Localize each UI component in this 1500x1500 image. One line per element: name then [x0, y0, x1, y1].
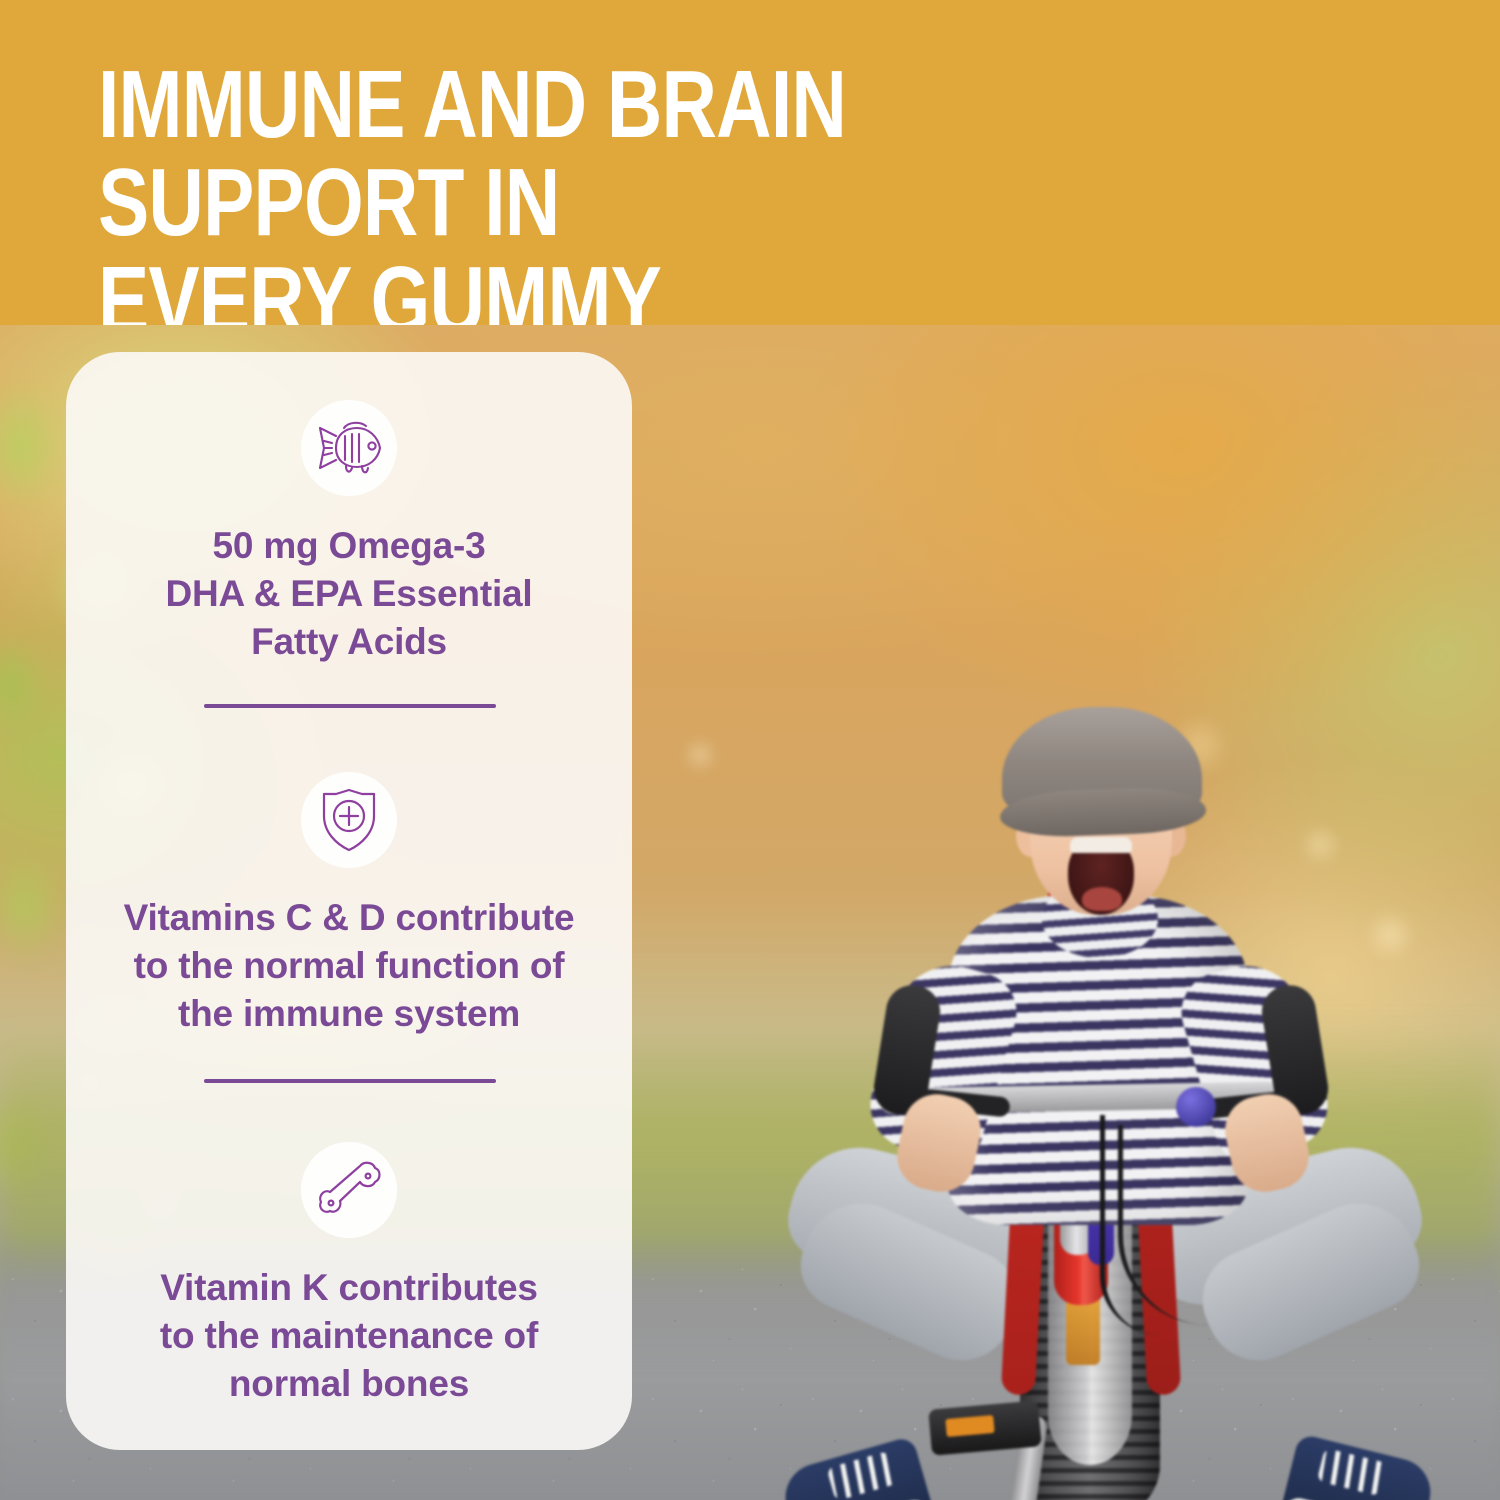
- infographic-page: IMMUNE AND BRAIN SUPPORT IN EVERY GUMMY: [0, 0, 1500, 1500]
- divider-2: [204, 1079, 496, 1083]
- shield-plus-icon-badge: [301, 772, 397, 868]
- fish-icon-badge: [301, 400, 397, 496]
- tongue: [1082, 887, 1122, 911]
- feature-omega-3-text: 50 mg Omega-3 DHA & EPA Essential Fatty …: [66, 522, 632, 666]
- divider-1: [204, 704, 496, 708]
- fish-icon: [314, 419, 384, 477]
- bone-icon-badge: [301, 1142, 397, 1238]
- bike-bell: [1176, 1087, 1216, 1127]
- header-banner: IMMUNE AND BRAIN SUPPORT IN EVERY GUMMY: [0, 0, 1500, 325]
- bone-icon: [315, 1156, 383, 1224]
- benefits-card: 50 mg Omega-3 DHA & EPA Essential Fatty …: [66, 352, 632, 1450]
- feature-vitamins-cd-text: Vitamins C & D contribute to the normal …: [66, 894, 632, 1038]
- teeth: [1070, 837, 1132, 853]
- page-headline: IMMUNE AND BRAIN SUPPORT IN EVERY GUMMY: [98, 56, 1162, 325]
- shield-plus-icon: [318, 786, 380, 854]
- feature-omega-3: 50 mg Omega-3 DHA & EPA Essential Fatty …: [66, 400, 632, 666]
- feature-vitamin-k-text: Vitamin K contributes to the maintenance…: [66, 1264, 632, 1408]
- feature-vitamin-k: Vitamin K contributes to the maintenance…: [66, 1142, 632, 1408]
- feature-vitamins-cd: Vitamins C & D contribute to the normal …: [66, 772, 632, 1038]
